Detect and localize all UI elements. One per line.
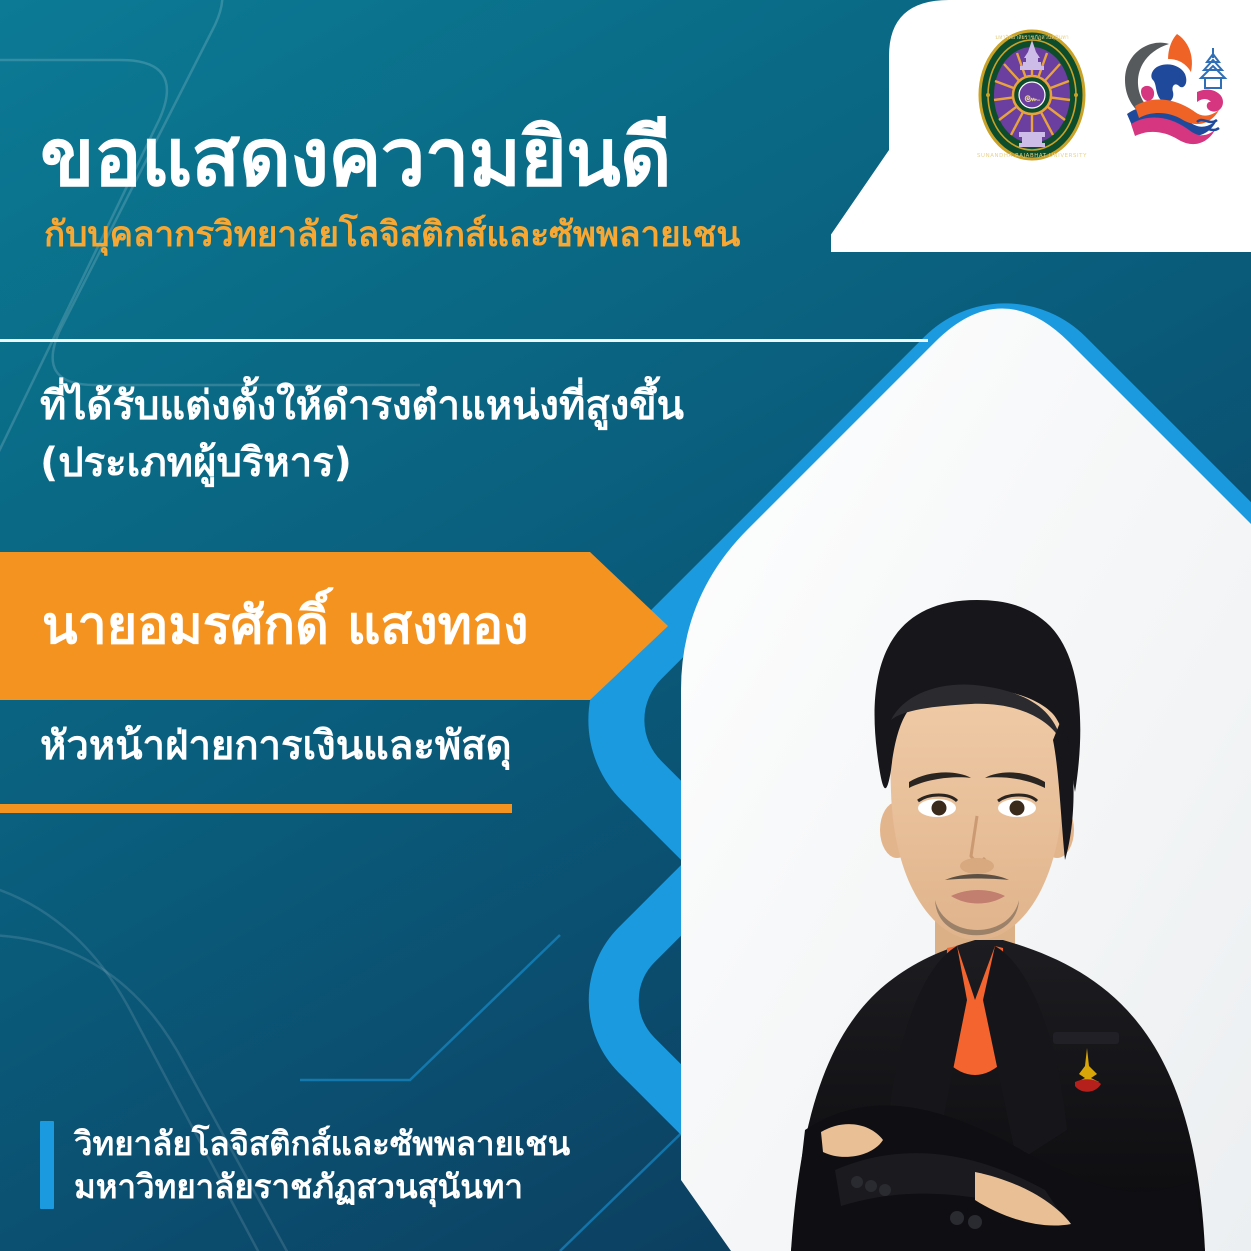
statement-line-1: ที่ได้รับแต่งตั้งให้ดำรงตำแหน่งที่สูงขึ้… [40, 378, 684, 435]
honoree-name-banner: นายอมรศักดิ์ แสงทอง [0, 552, 668, 700]
svg-text:๛: ๛ [1024, 90, 1041, 106]
honoree-name: นายอมรศักดิ์ แสงทอง [42, 600, 529, 652]
statement-block: ที่ได้รับแต่งตั้งให้ดำรงตำแหน่งที่สูงขึ้… [40, 378, 684, 492]
svg-text:SUNANDHA RAJABHAT UNIVERSITY: SUNANDHA RAJABHAT UNIVERSITY [977, 153, 1087, 159]
statement-line-2: (ประเภทผู้บริหาร) [40, 435, 684, 492]
svg-text:มหาวิทยาลัยราชภัฏสวนสุนันทา: มหาวิทยาลัยราชภัฏสวนสุนันทา [995, 34, 1068, 41]
header-divider [0, 339, 928, 342]
footer-block: วิทยาลัยโลจิสติกส์และซัพพลายเชน มหาวิทยา… [40, 1121, 570, 1209]
page-subtitle: กับบุคลากรวิทยาลัยโลจิสติกส์และซัพพลายเช… [44, 216, 740, 255]
logo-group: ๛ มหาวิทยาลัยราชภัฏสวนสุนันทา SUNANDHA R… [977, 28, 1229, 162]
congratulations-poster: ๛ มหาวิทยาลัยราชภัฏสวนสุนันทา SUNANDHA R… [0, 0, 1251, 1251]
footer-org: วิทยาลัยโลจิสติกส์และซัพพลายเชน มหาวิทยา… [74, 1121, 570, 1209]
page-title: ขอแสดงความยินดี [40, 118, 740, 198]
orange-divider [0, 804, 512, 813]
headline-block: ขอแสดงความยินดี กับบุคลากรวิทยาลัยโลจิสต… [40, 118, 740, 255]
ssru-university-seal-icon: ๛ มหาวิทยาลัยราชภัฏสวนสุนันทา SUNANDHA R… [977, 28, 1087, 162]
honoree-position: หัวหน้าฝ่ายการเงินและพัสดุ [40, 722, 512, 770]
footer-accent-bar [40, 1121, 54, 1209]
honoree-portrait [681, 300, 1251, 1251]
cls-flame-globe-logo-icon [1109, 28, 1229, 156]
footer-line-1: วิทยาลัยโลจิสติกส์และซัพพลายเชน [74, 1123, 570, 1166]
footer-line-2: มหาวิทยาลัยราชภัฏสวนสุนันทา [74, 1166, 570, 1209]
